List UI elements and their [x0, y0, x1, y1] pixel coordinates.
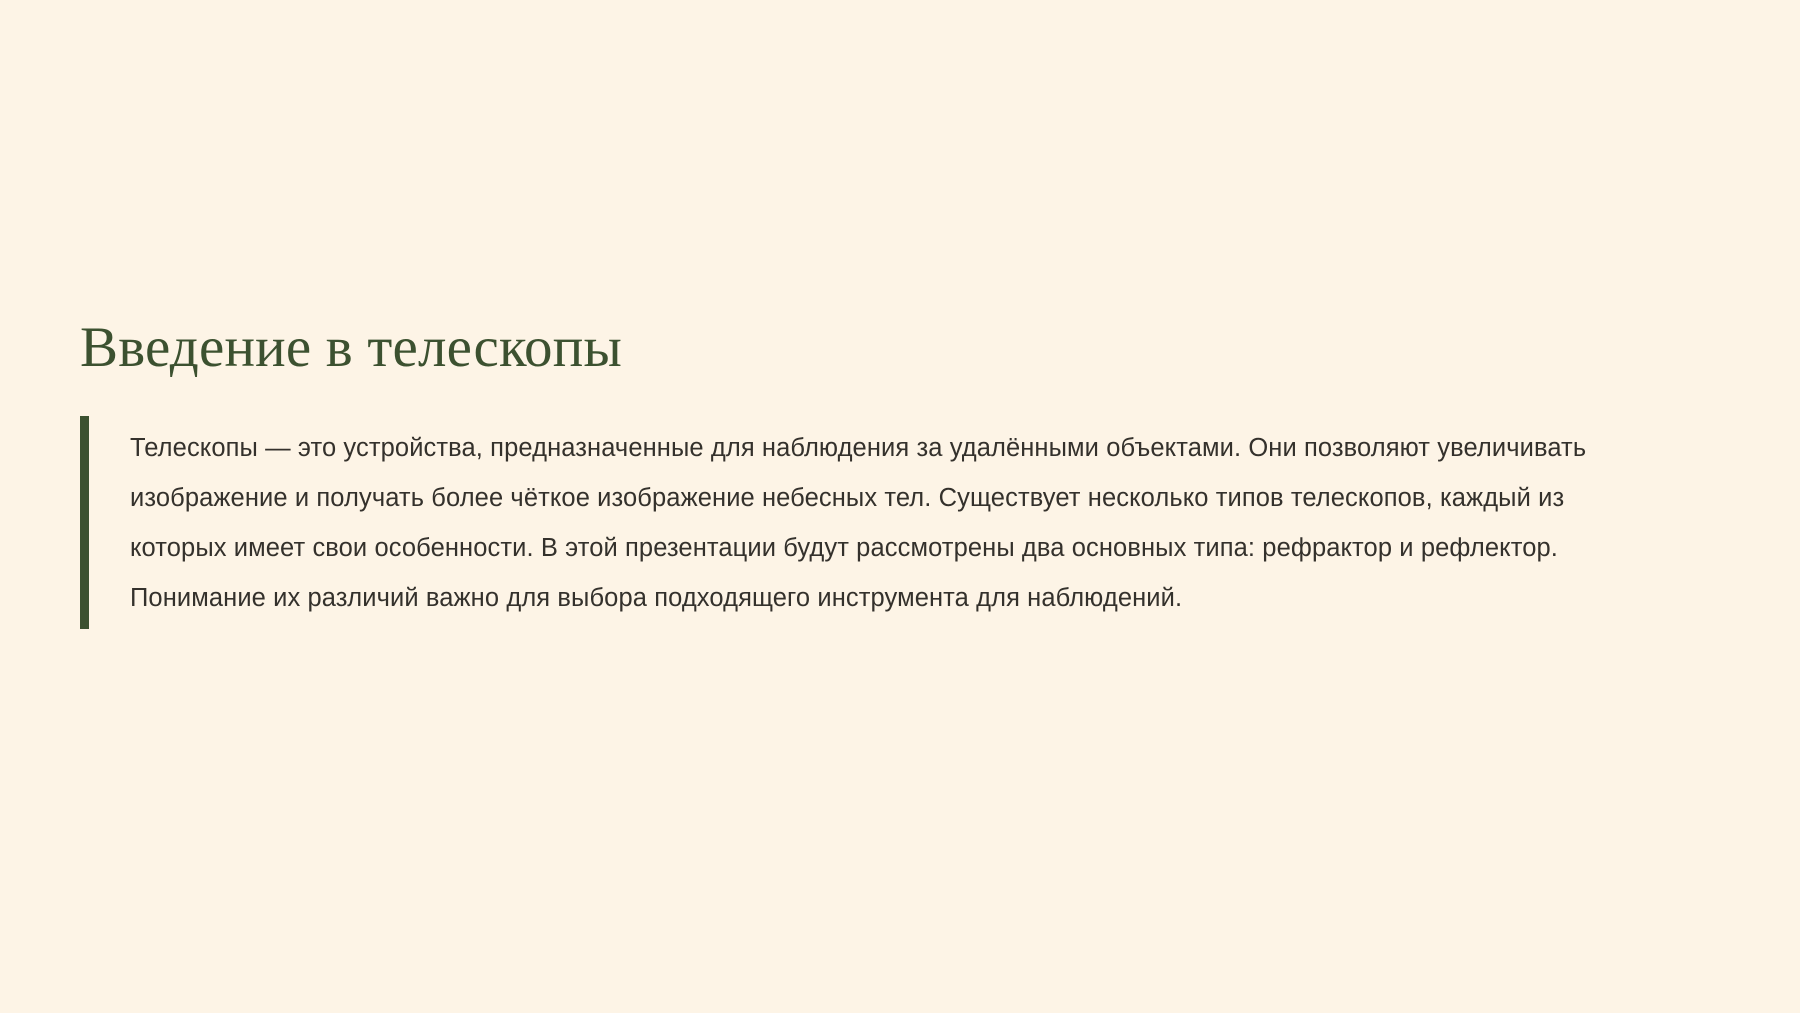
body-paragraph: Телескопы — это устройства, предназначен…: [130, 416, 1590, 629]
body-block: Телескопы — это устройства, предназначен…: [80, 416, 1720, 629]
slide-content: Введение в телескопы Телескопы — это уст…: [80, 318, 1720, 629]
accent-bar: [80, 416, 89, 629]
page-title: Введение в телескопы: [80, 318, 1720, 378]
presentation-slide: Введение в телескопы Телескопы — это уст…: [0, 0, 1800, 1013]
